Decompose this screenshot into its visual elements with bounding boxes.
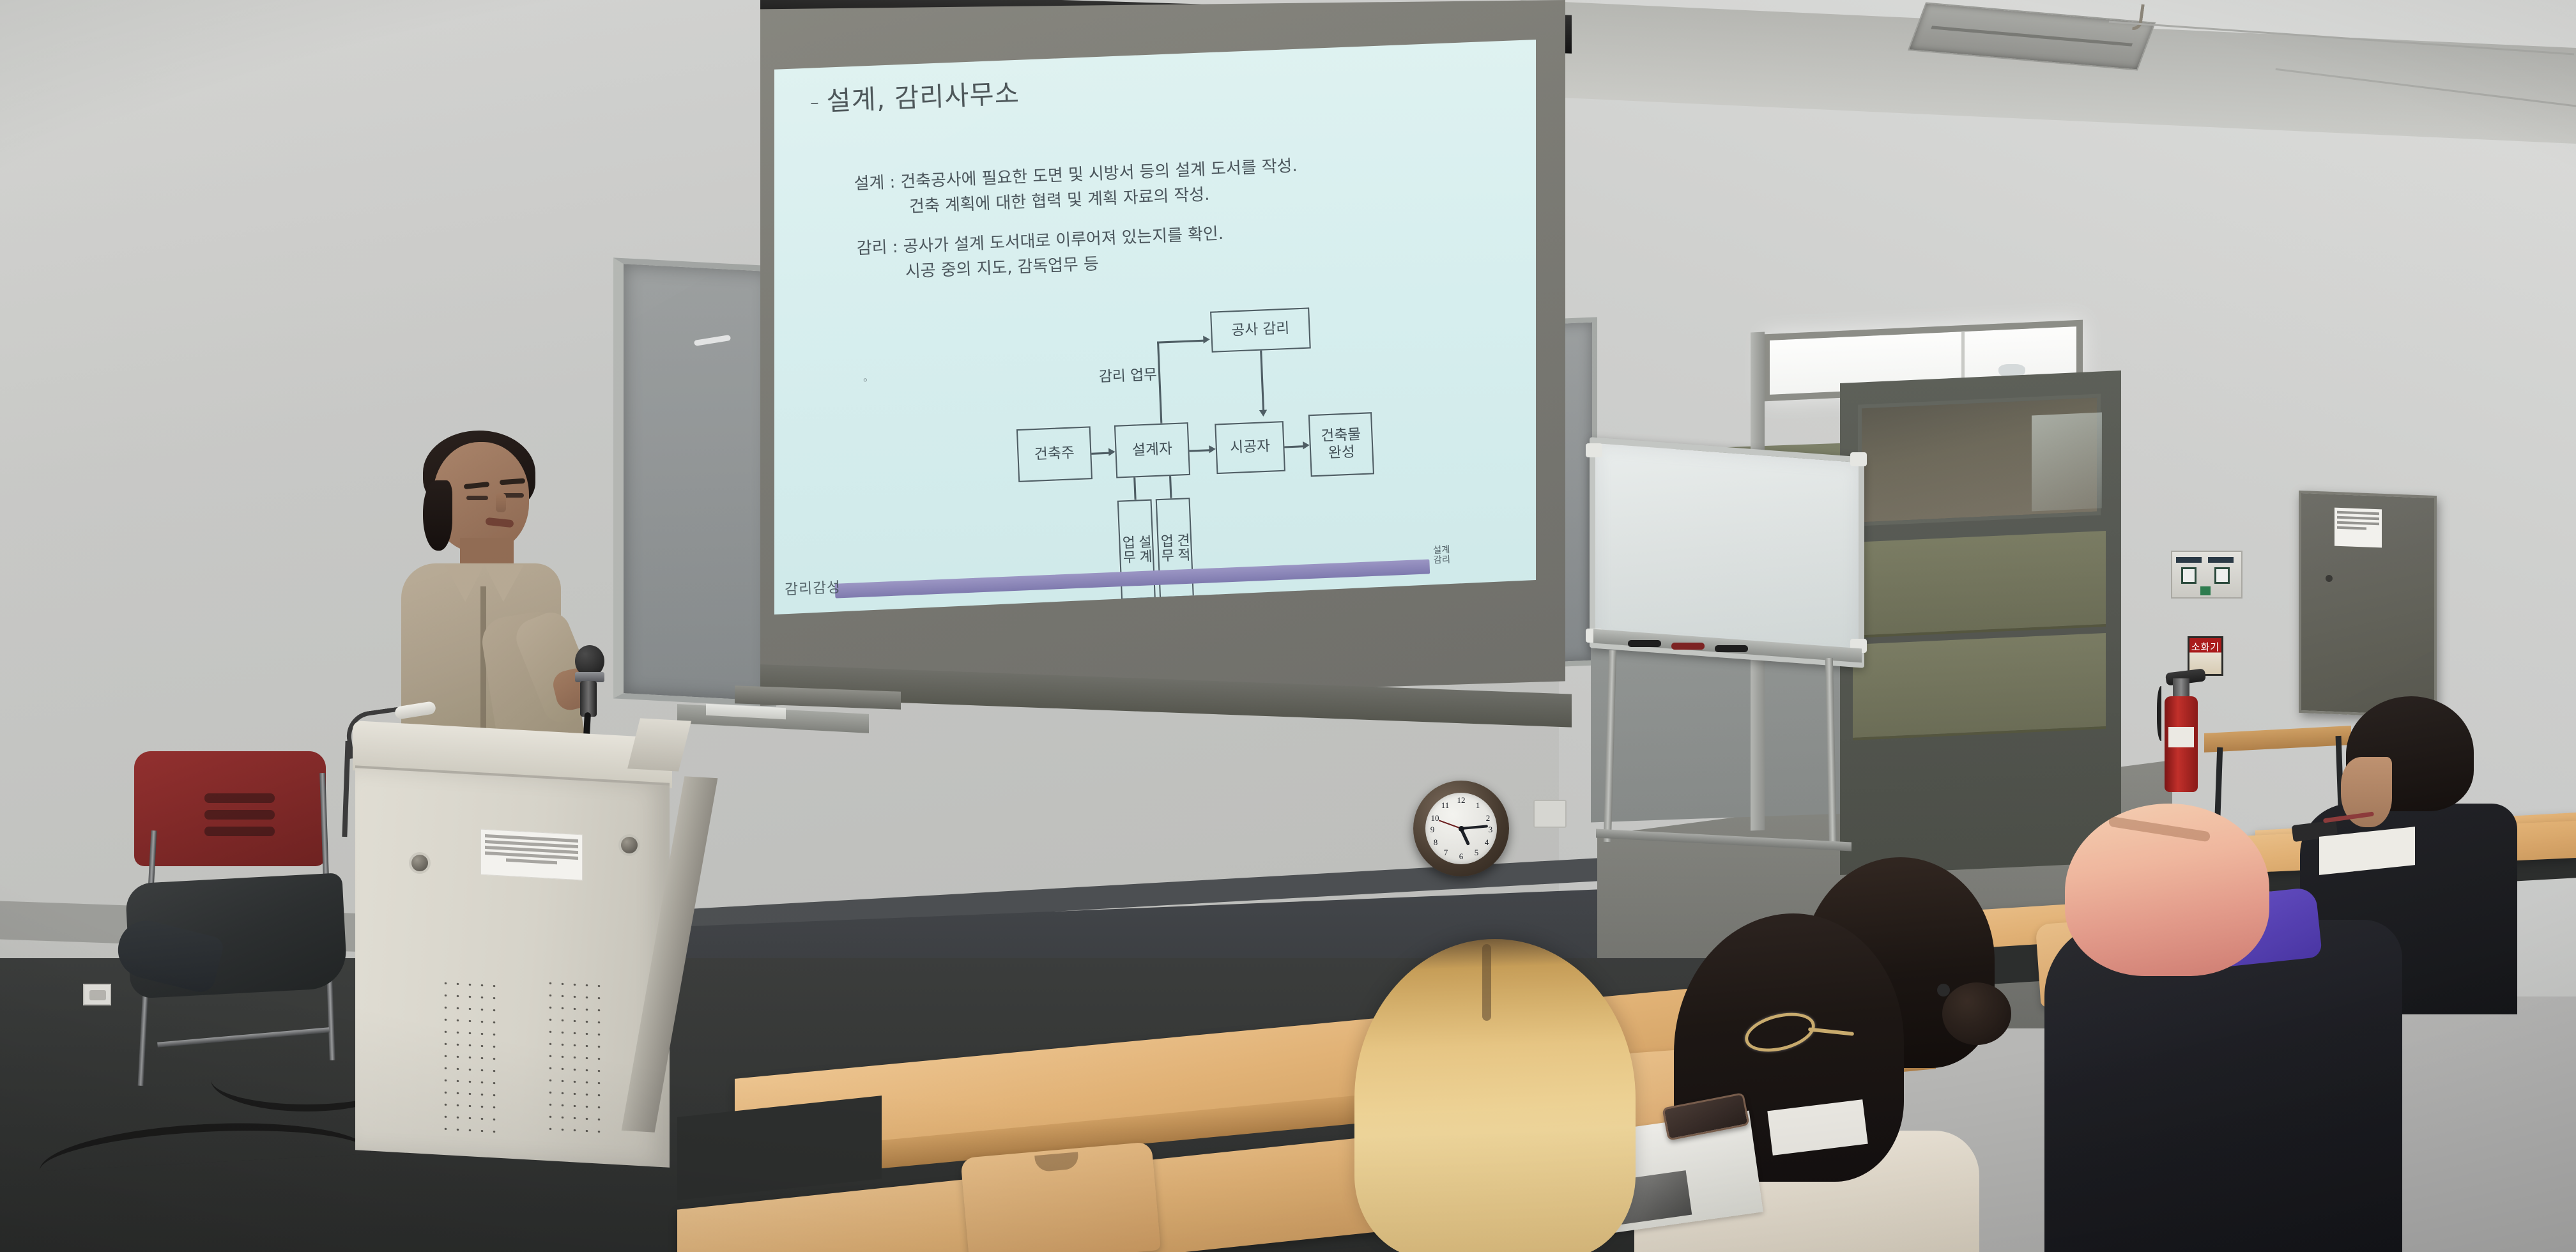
whiteboard-corner (1850, 452, 1867, 466)
diagram-node-owner: 건축주 (1016, 426, 1092, 482)
clock-numeral: 10 (1429, 813, 1441, 823)
lectern-lock-icon[interactable] (411, 855, 428, 871)
clock-numeral: 12 (1455, 795, 1468, 805)
lectern[interactable] (353, 729, 685, 1202)
chair-slot (204, 810, 275, 820)
mobile-whiteboard[interactable] (1590, 447, 1864, 658)
marker-red-icon[interactable] (1671, 643, 1705, 650)
extinguisher-label (2168, 727, 2194, 747)
clock-numeral: 6 (1455, 851, 1468, 862)
lectern-speaker-grille (544, 977, 606, 1140)
fire-extinguisher-sign-text: 소화기 (2189, 640, 2221, 653)
door-glass-highlight (2032, 413, 2102, 512)
student-blonde-hair (1354, 939, 1636, 1252)
diagram-node-supervision: 공사 감리 (1210, 307, 1311, 352)
diagram-arrow-icon (1259, 410, 1268, 417)
wall-outlet[interactable] (83, 984, 111, 1005)
marker-black-icon[interactable] (1715, 645, 1748, 652)
diagram-line (1157, 342, 1162, 424)
microphone-body (580, 681, 597, 717)
wall-clock: 12 1 2 3 4 5 6 7 8 9 10 11 (1413, 781, 1509, 876)
lectern-body (355, 767, 670, 1168)
slide-flow-diagram: 공사 감리 감리 업무 건축주 설계자 시공자 건축물 완성 (1012, 302, 1472, 584)
diagram-node-builder: 시공자 (1215, 421, 1285, 474)
slide-footer-right-2: 감리 (1433, 555, 1450, 565)
presenter-nose (496, 493, 506, 512)
diagram-line (1133, 477, 1137, 500)
diagram-line (1157, 340, 1205, 344)
slide-title: -설계, 감리사무소 (809, 72, 1020, 119)
diagram-arrow-icon (1203, 335, 1210, 344)
diagram-node-designer: 설계자 (1114, 422, 1190, 478)
slide-title-dash: - (809, 87, 820, 118)
student-blonde-hair-part (1482, 944, 1491, 1021)
cabinet-notice (2334, 508, 2382, 548)
student-pink-coat (2044, 920, 2402, 1252)
clock-numeral: 5 (1470, 848, 1483, 858)
presenter-hair-side (423, 480, 452, 551)
chair-slot (204, 793, 275, 803)
bullet-marker-icon: ◦ (862, 369, 896, 378)
clock-numeral: 8 (1429, 837, 1442, 848)
door-panel (1853, 633, 2106, 740)
marker-black-icon[interactable] (1628, 640, 1661, 647)
classroom-photo: -설계, 감리사무소 ◦ 설계 : 건축공사에 필요한 도면 및 시방서 등의 … (0, 0, 2576, 1252)
diagram-edge-label: 감리 업무 (1098, 363, 1157, 386)
chair-rail (157, 1027, 330, 1048)
chair-backrest (134, 751, 326, 866)
slide-footer-left: 감리감성 (784, 576, 841, 599)
utility-panel (2171, 551, 2242, 599)
clock-center-pin (1459, 826, 1464, 832)
projection-screen: -설계, 감리사무소 ◦ 설계 : 건축공사에 필요한 도면 및 시방서 등의 … (760, 0, 1572, 722)
emergency-exit-icon (2200, 586, 2211, 595)
student-bun-knot (1942, 982, 2011, 1045)
chair-back-rest[interactable] (960, 1141, 1161, 1252)
diagram-line (1260, 351, 1264, 413)
chair-slot (204, 827, 275, 836)
sliding-board-panel-left[interactable] (613, 257, 776, 706)
red-chair[interactable] (121, 735, 358, 1092)
diagram-arrow-icon (1108, 448, 1115, 456)
diagram-arrow-icon (1209, 445, 1216, 454)
whiteboard-corner (1586, 443, 1602, 457)
door-panel (1853, 531, 2106, 638)
wall-socket[interactable] (1533, 800, 1567, 828)
student-bun-hairband (1937, 984, 1950, 996)
slide-footer-right: 설계 감리 (1433, 546, 1451, 565)
cabinet-knob-icon[interactable] (2326, 575, 2333, 582)
projected-slide: -설계, 감리사무소 ◦ 설계 : 건축공사에 필요한 도면 및 시방서 등의 … (774, 40, 1536, 615)
clock-numeral: 7 (1439, 848, 1452, 858)
diagram-arrow-icon (1303, 441, 1310, 450)
clock-numeral: 1 (1471, 800, 1484, 811)
clock-face: 12 1 2 3 4 5 6 7 8 9 10 11 (1425, 793, 1497, 864)
slide-bullet-item: ◦ 감리 : 공사가 설계 도서대로 이루어져 있는지를 확인. 시공 중의 지… (856, 209, 1519, 286)
slide-bullet-list: ◦ 설계 : 건축공사에 필요한 도면 및 시방서 등의 설계 도서를 작성. … (854, 144, 1519, 301)
clock-numeral: 9 (1426, 825, 1439, 835)
diagram-line (1189, 449, 1211, 452)
slide-bullet-item: ◦ 설계 : 건축공사에 필요한 도면 및 시방서 등의 설계 도서를 작성. … (854, 144, 1516, 222)
lectern-speaker-grille (440, 977, 501, 1140)
diagram-line (1169, 476, 1172, 498)
clock-numeral: 2 (1482, 813, 1494, 823)
lectern-lock-icon[interactable] (621, 837, 638, 853)
lectern-notice-sticker (480, 829, 583, 881)
diagram-node-completed: 건축물 완성 (1308, 412, 1374, 477)
clock-numeral: 11 (1439, 800, 1452, 811)
clock-numeral: 4 (1480, 837, 1493, 848)
presenter-eye (466, 496, 488, 500)
slide-title-text: 설계, 감리사무소 (826, 79, 1020, 117)
